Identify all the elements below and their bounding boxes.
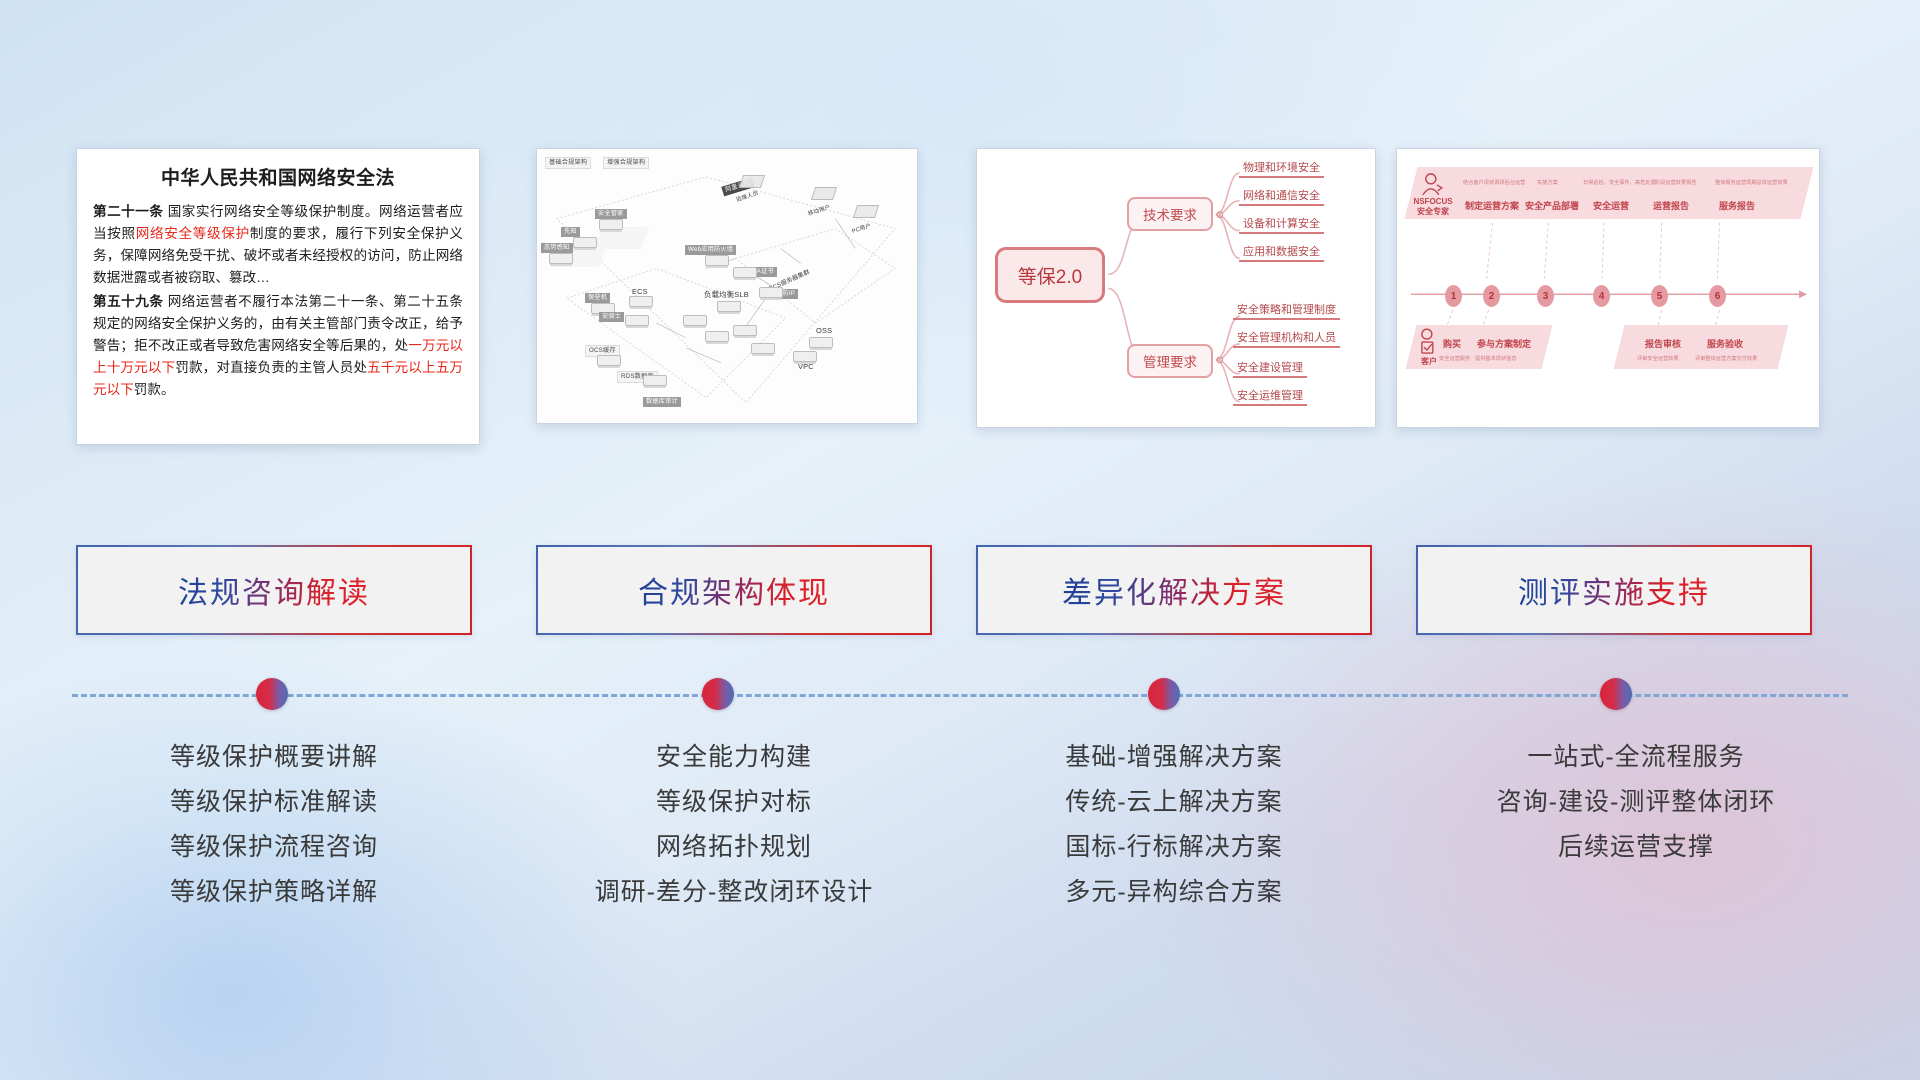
- mindmap-leaf-t3: 设备和计算安全: [1239, 215, 1324, 234]
- card-topology: 基础合规架构 增强合规架构 阿里云盾 安全管家 先知 态势感知 保垒机 ECS …: [536, 148, 918, 424]
- law-article-label-2: 第五十九条: [93, 294, 163, 309]
- page-root: 中华人民共和国网络安全法 第二十一条 国家实行网络安全等级保护制度。网络运营者应…: [0, 0, 1920, 1080]
- service-bottom-sub-2: 提供基本现状信息: [1475, 355, 1517, 362]
- section-list-3: 基础-增强解决方案 传统-云上解决方案 国标-行标解决方案 多元-异构综合方案: [976, 735, 1372, 915]
- list-item: 国标-行标解决方案: [976, 825, 1372, 870]
- topology-node-taishiganzhi: 态势感知: [541, 243, 573, 253]
- law-paragraph-1: 第二十一条 国家实行网络安全等级保护制度。网络运营者应当按照网络安全等级保护制度…: [93, 201, 463, 289]
- topology-node-slb: 负载均衡SLB: [701, 289, 752, 300]
- list-item: 后续运营支撑: [1416, 825, 1856, 870]
- topology-icon-ca-cert: [733, 267, 757, 278]
- service-top-title-5: 服务报告: [1719, 199, 1755, 212]
- timeline-dot-4: [1600, 678, 1632, 710]
- section-list-1: 等级保护概要讲解 等级保护标准解读 等级保护流程咨询 等级保护策略详解: [76, 735, 472, 915]
- law-title: 中华人民共和国网络安全法: [93, 163, 463, 190]
- card-mindmap: 等保2.0 技术要求 管理要求 物理和环境安全 网络和通信安全 设备和计算安全 …: [976, 148, 1376, 428]
- service-bottom-title-4: 服务验收: [1707, 337, 1743, 350]
- list-item: 等级保护流程咨询: [76, 825, 472, 870]
- section-heading-2-label: 合规架构体现: [638, 568, 830, 612]
- section-heading-1-label: 法规咨询解读: [178, 568, 370, 612]
- service-top-sub-3: 日常巡检、安全事件、高危处置: [1583, 179, 1656, 186]
- law-paragraph-2: 第五十九条 网络运营者不履行本法第二十一条、第二十五条规定的网络安全保护义务的，…: [93, 291, 463, 401]
- service-brand-sub: 安全专家: [1409, 207, 1457, 217]
- timeline-dashed-line: [72, 694, 1848, 697]
- topology-icon-taishiganzhi: [549, 253, 573, 264]
- section-heading-1[interactable]: 法规咨询解读: [76, 545, 472, 635]
- topology-plate-b: [593, 227, 649, 249]
- service-marker-3: 3: [1537, 285, 1554, 307]
- mindmap-leaf-t2: 网络和通信安全: [1239, 187, 1324, 206]
- list-item: 等级保护概要讲解: [76, 735, 472, 780]
- topology-node-db-audit: 数据库审计: [643, 397, 681, 407]
- topology-icon-pc-user: [853, 205, 879, 218]
- list-item: 调研-差分-整改闭环设计: [536, 870, 932, 915]
- service-bottom-title-2: 参与方案制定: [1477, 337, 1531, 350]
- topology-icon-cluster-3: [733, 325, 757, 336]
- mindmap-leaf-t1: 物理和环境安全: [1239, 159, 1324, 178]
- service-top-title-2: 安全产品部署: [1525, 199, 1579, 212]
- list-item: 一站式-全流程服务: [1416, 735, 1856, 780]
- list-item: 等级保护对标: [536, 780, 932, 825]
- section-heading-3[interactable]: 差异化解决方案: [976, 545, 1372, 635]
- service-top-sub-2: 实施方案: [1537, 179, 1558, 186]
- law-seg-2-2: 罚款，对直接负责的主管人员处: [175, 360, 367, 375]
- topology-node-xianzhi: 先知: [561, 227, 580, 237]
- section-headings-row: 法规咨询解读 合规架构体现 差异化解决方案 测评实施支持: [0, 545, 1920, 645]
- topology-icon-slb: [717, 301, 741, 312]
- mindmap-leaf-m3: 安全建设管理: [1233, 359, 1307, 378]
- mindmap-branch-management: 管理要求: [1127, 344, 1213, 378]
- service-top-sub-4: 阶段运营效果报告: [1655, 179, 1697, 186]
- topology-icon-cluster-4: [751, 343, 775, 354]
- topology-node-anqishi: 安骑士: [599, 312, 624, 322]
- topology-node-baoleiji: 保垒机: [585, 293, 610, 303]
- service-marker-6: 6: [1709, 285, 1726, 307]
- topology-tab-basic[interactable]: 基础合规架构: [545, 157, 591, 169]
- topology-node-vpc: VPC: [795, 361, 817, 372]
- list-item: 安全能力构建: [536, 735, 932, 780]
- law-seg-2-4: 罚款。: [134, 382, 175, 397]
- topology-icon-ecs: [629, 296, 653, 307]
- list-item: 等级保护标准解读: [76, 780, 472, 825]
- topology-icon-waf: [705, 255, 729, 266]
- service-top-title-3: 安全运营: [1593, 199, 1629, 212]
- topology-icon-vpc: [793, 351, 817, 362]
- service-marker-2: 2: [1483, 285, 1500, 307]
- law-article-label-1: 第二十一条: [93, 204, 163, 219]
- topology-node-anquanguanjia: 安全管家: [595, 209, 627, 219]
- law-seg-1-1: 网络安全等级保护: [136, 226, 250, 241]
- topology-icon-anqishi: [625, 315, 649, 326]
- service-top-title-4: 运营报告: [1653, 199, 1689, 212]
- mindmap-root-node: 等保2.0: [995, 247, 1105, 303]
- section-heading-4-label: 测评实施支持: [1518, 568, 1710, 612]
- section-list-4: 一站式-全流程服务 咨询-建设-测评整体闭环 后续运营支撑: [1416, 735, 1856, 870]
- service-brand-name: NSFOCUS: [1409, 197, 1457, 207]
- list-item: 咨询-建设-测评整体闭环: [1416, 780, 1856, 825]
- topology-icon-cluster-1: [683, 315, 707, 326]
- section-list-2: 安全能力构建 等级保护对标 网络拓扑规划 调研-差分-整改闭环设计: [536, 735, 932, 915]
- topology-icon-anti-ddos-ip: [759, 287, 783, 298]
- section-heading-3-label: 差异化解决方案: [1062, 568, 1286, 612]
- service-marker-1: 1: [1445, 285, 1462, 307]
- topology-icon-anquanguanjia: [599, 219, 623, 230]
- service-bottom-sub-3: 评审安全运营效果: [1637, 355, 1679, 362]
- list-item: 等级保护策略详解: [76, 870, 472, 915]
- mindmap-leaf-t4: 应用和数据安全: [1239, 243, 1324, 262]
- topology-node-oss: OSS: [813, 325, 835, 336]
- service-bottom-title-3: 报告审核: [1645, 337, 1681, 350]
- topology-icon-xianzhi: [573, 237, 597, 248]
- service-top-sub-5: 整体服务运营周期总体运营效果: [1715, 179, 1788, 186]
- card-law: 中华人民共和国网络安全法 第二十一条 国家实行网络安全等级保护制度。网络运营者应…: [76, 148, 480, 445]
- list-item: 传统-云上解决方案: [976, 780, 1372, 825]
- list-item: 网络拓扑规划: [536, 825, 932, 870]
- topology-icon-mobile-user: [811, 187, 837, 200]
- timeline-dot-2: [702, 678, 734, 710]
- mindmap-branch-technical: 技术要求: [1127, 197, 1213, 231]
- mindmap-leaf-m1: 安全策略和管理制度: [1233, 301, 1340, 320]
- topology-icon-ops-user: [739, 175, 765, 188]
- topology-icon-cluster-2: [705, 331, 729, 342]
- service-top-title-1: 制定运营方案: [1465, 199, 1519, 212]
- cards-row: 中华人民共和国网络安全法 第二十一条 国家实行网络安全等级保护制度。网络运营者应…: [0, 148, 1920, 448]
- service-timeline-diagram: NSFOCUS 安全专家 结合客户现状调研后台运营 制定运营方案 实施方案 安全…: [1397, 149, 1819, 427]
- service-bottom-sub-4: 评审整体运营方案交付效果: [1695, 355, 1757, 362]
- section-heading-4[interactable]: 测评实施支持: [1416, 545, 1812, 635]
- service-marker-5: 5: [1651, 285, 1668, 307]
- list-item: 多元-异构综合方案: [976, 870, 1372, 915]
- topology-icon-oss: [809, 337, 833, 348]
- timeline-dot-1: [256, 678, 288, 710]
- service-bottom-title-1: 购买: [1443, 337, 1461, 350]
- topology-icon-rds: [643, 375, 667, 386]
- topology-diagram: 基础合规架构 增强合规架构 阿里云盾 安全管家 先知 态势感知 保垒机 ECS …: [537, 149, 917, 423]
- law-body: 中华人民共和国网络安全法 第二十一条 国家实行网络安全等级保护制度。网络运营者应…: [77, 149, 479, 413]
- mindmap-diagram: 等保2.0 技术要求 管理要求 物理和环境安全 网络和通信安全 设备和计算安全 …: [977, 149, 1375, 427]
- timeline-dot-3: [1148, 678, 1180, 710]
- topology-node-waf: Web应用防火墙: [685, 245, 736, 255]
- service-bottom-sub-1: 安全运营服务: [1439, 355, 1470, 362]
- mindmap-leaf-m2: 安全管理机构和人员: [1233, 329, 1340, 348]
- list-item: 基础-增强解决方案: [976, 735, 1372, 780]
- section-heading-2[interactable]: 合规架构体现: [536, 545, 932, 635]
- mindmap-leaf-m4: 安全运维管理: [1233, 387, 1307, 406]
- service-marker-4: 4: [1593, 285, 1610, 307]
- topology-tab-enhanced[interactable]: 增强合规架构: [603, 157, 649, 169]
- card-service-timeline: NSFOCUS 安全专家 结合客户现状调研后台运营 制定运营方案 实施方案 安全…: [1396, 148, 1820, 428]
- topology-icon-ocs-cache: [597, 355, 621, 366]
- service-top-sub-1: 结合客户现状调研后台运营: [1463, 179, 1525, 186]
